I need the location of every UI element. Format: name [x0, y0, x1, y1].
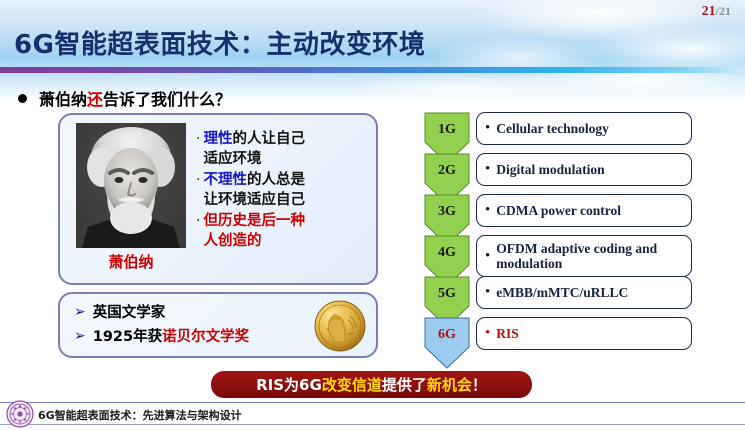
quote-item: · 理性的人让自己适应环境 — [196, 129, 374, 169]
generation-card[interactable]: • RIS — [476, 317, 692, 350]
fact-text: 英国文学家 — [93, 301, 166, 322]
generations-flow: 1G • Cellular technology 2G • Digital mo… — [424, 112, 724, 362]
banner-part-3: 提供了 — [382, 376, 427, 394]
quote-item-text: 理性的人让自己适应环境 — [203, 129, 305, 169]
footer-title: 6G智能超表面技术：先进算法与架构设计 — [38, 407, 242, 423]
footer-divider-top — [0, 402, 745, 403]
quote-bullet-icon: · — [196, 170, 200, 190]
generation-card-text: OFDM adaptive coding andmodulation — [496, 241, 657, 271]
fact-text-black: 1925年获 — [93, 329, 162, 345]
quote-item: · 不理性的人总是让环境适应自己 — [196, 170, 374, 210]
quote-bullet-icon: · — [196, 129, 200, 149]
heading-highlight: 还 — [87, 90, 103, 109]
facts-box: ➢ 英国文学家 ➢ 1925年获诺贝尔文学奖 — [58, 292, 378, 358]
page-number: 21/21 — [702, 4, 731, 20]
quote-emph: 不理性 — [203, 172, 247, 188]
page-number-current: 21 — [702, 4, 716, 19]
generation-card[interactable]: • Digital modulation — [476, 153, 692, 186]
generation-card[interactable]: • eMBB/mMTC/uRLLC — [476, 276, 692, 309]
quote-line2: 让环境适应自己 — [203, 192, 305, 208]
conclusion-banner: RIS为6G改变信道提供了新机会！ — [211, 371, 532, 398]
card-bullet-icon: • — [485, 121, 490, 136]
page-title: 6G智能超表面技术：主动改变环境 — [14, 24, 425, 61]
generation-card-text: RIS — [496, 326, 519, 341]
generation-row-1g: 1G • Cellular technology — [424, 112, 724, 150]
generation-card[interactable]: • OFDM adaptive coding andmodulation — [476, 235, 692, 277]
generation-row-4g: 4G • OFDM adaptive coding andmodulation — [424, 235, 724, 273]
quote-emph: 但历史是后一种 — [203, 213, 305, 229]
generation-card-text: Digital modulation — [496, 162, 604, 177]
quote-item: · 但历史是后一种人创造的 — [196, 211, 374, 251]
banner-part-1: RIS为6G — [256, 376, 322, 394]
header-accent-bar — [0, 67, 745, 73]
nobel-medal-icon — [314, 300, 366, 352]
card-text-line1: OFDM adaptive coding and — [496, 241, 657, 256]
generation-row-6g: 6G • RIS — [424, 317, 724, 355]
generation-card-text: CDMA power control — [496, 203, 621, 218]
card-bullet-icon: • — [485, 285, 490, 300]
quote-rest: 的人总是 — [247, 172, 305, 188]
shaw-portrait-image — [76, 123, 186, 248]
generation-row-3g: 3G • CDMA power control — [424, 194, 724, 232]
card-bullet-icon: • — [485, 249, 490, 264]
heading-part-1: 萧伯纳 — [39, 90, 87, 109]
generation-row-5g: 5G • eMBB/mMTC/uRLLC — [424, 276, 724, 314]
quote-item-text: 但历史是后一种人创造的 — [203, 211, 305, 251]
generation-card[interactable]: • Cellular technology — [476, 112, 692, 145]
fact-text-black: 英国文学家 — [93, 305, 166, 321]
arrow-bullet-icon: ➢ — [74, 304, 86, 320]
generation-row-2g: 2G • Digital modulation — [424, 153, 724, 191]
banner-highlight-2: 新机会 — [427, 376, 472, 394]
quote-box: 萧伯纳 · 理性的人让自己适应环境 · 不理性的人总是让环境适应自己 · 但历史… — [58, 113, 378, 285]
quote-bullet-icon: · — [196, 211, 200, 231]
portrait-artwork — [76, 123, 186, 248]
quote-list: · 理性的人让自己适应环境 · 不理性的人总是让环境适应自己 · 但历史是后一种… — [196, 129, 374, 252]
quote-emph: 理性 — [203, 131, 232, 147]
portrait-container — [76, 123, 186, 248]
card-bullet-icon: • — [485, 162, 490, 177]
generation-card-text: Cellular technology — [496, 121, 609, 136]
banner-highlight-1: 改变信道 — [322, 376, 382, 394]
fact-text: 1925年获诺贝尔文学奖 — [93, 325, 249, 346]
quote-line2: 适应环境 — [203, 151, 261, 167]
quote-rest: 的人让自己 — [232, 131, 305, 147]
card-bullet-icon: • — [485, 326, 490, 341]
footer-divider-bottom — [0, 424, 745, 425]
arrow-bullet-icon: ➢ — [74, 328, 86, 344]
card-bullet-icon: • — [485, 203, 490, 218]
quote-item-text: 不理性的人总是让环境适应自己 — [203, 170, 305, 210]
seal-artwork — [6, 400, 34, 428]
fact-row: ➢ 英国文学家 — [74, 301, 165, 322]
card-text-line2: modulation — [496, 256, 562, 271]
university-seal-logo-icon — [6, 400, 34, 428]
chevron-down-icon — [424, 317, 470, 369]
generation-card[interactable]: • CDMA power control — [476, 194, 692, 227]
portrait-caption: 萧伯纳 — [76, 251, 186, 272]
page-number-total: /21 — [716, 4, 731, 18]
quote-line2: 人创造的 — [203, 233, 261, 249]
fact-text-red: 诺贝尔文学奖 — [162, 329, 249, 345]
slide-canvas: 21/21 6G智能超表面技术：主动改变环境 萧伯纳还告诉了我们什么？ — [0, 0, 745, 430]
bullet-dot-icon — [18, 94, 27, 103]
heading-part-2: 告诉了我们什么？ — [103, 90, 231, 109]
generation-card-text: eMBB/mMTC/uRLLC — [496, 285, 628, 300]
fact-row: ➢ 1925年获诺贝尔文学奖 — [74, 325, 249, 346]
section-heading: 萧伯纳还告诉了我们什么？ — [18, 86, 231, 110]
section-heading-text: 萧伯纳还告诉了我们什么？ — [39, 86, 231, 110]
nobel-medal-artwork — [314, 300, 366, 352]
conclusion-banner-text: RIS为6G改变信道提供了新机会！ — [256, 374, 487, 395]
banner-part-5: ！ — [472, 376, 487, 394]
